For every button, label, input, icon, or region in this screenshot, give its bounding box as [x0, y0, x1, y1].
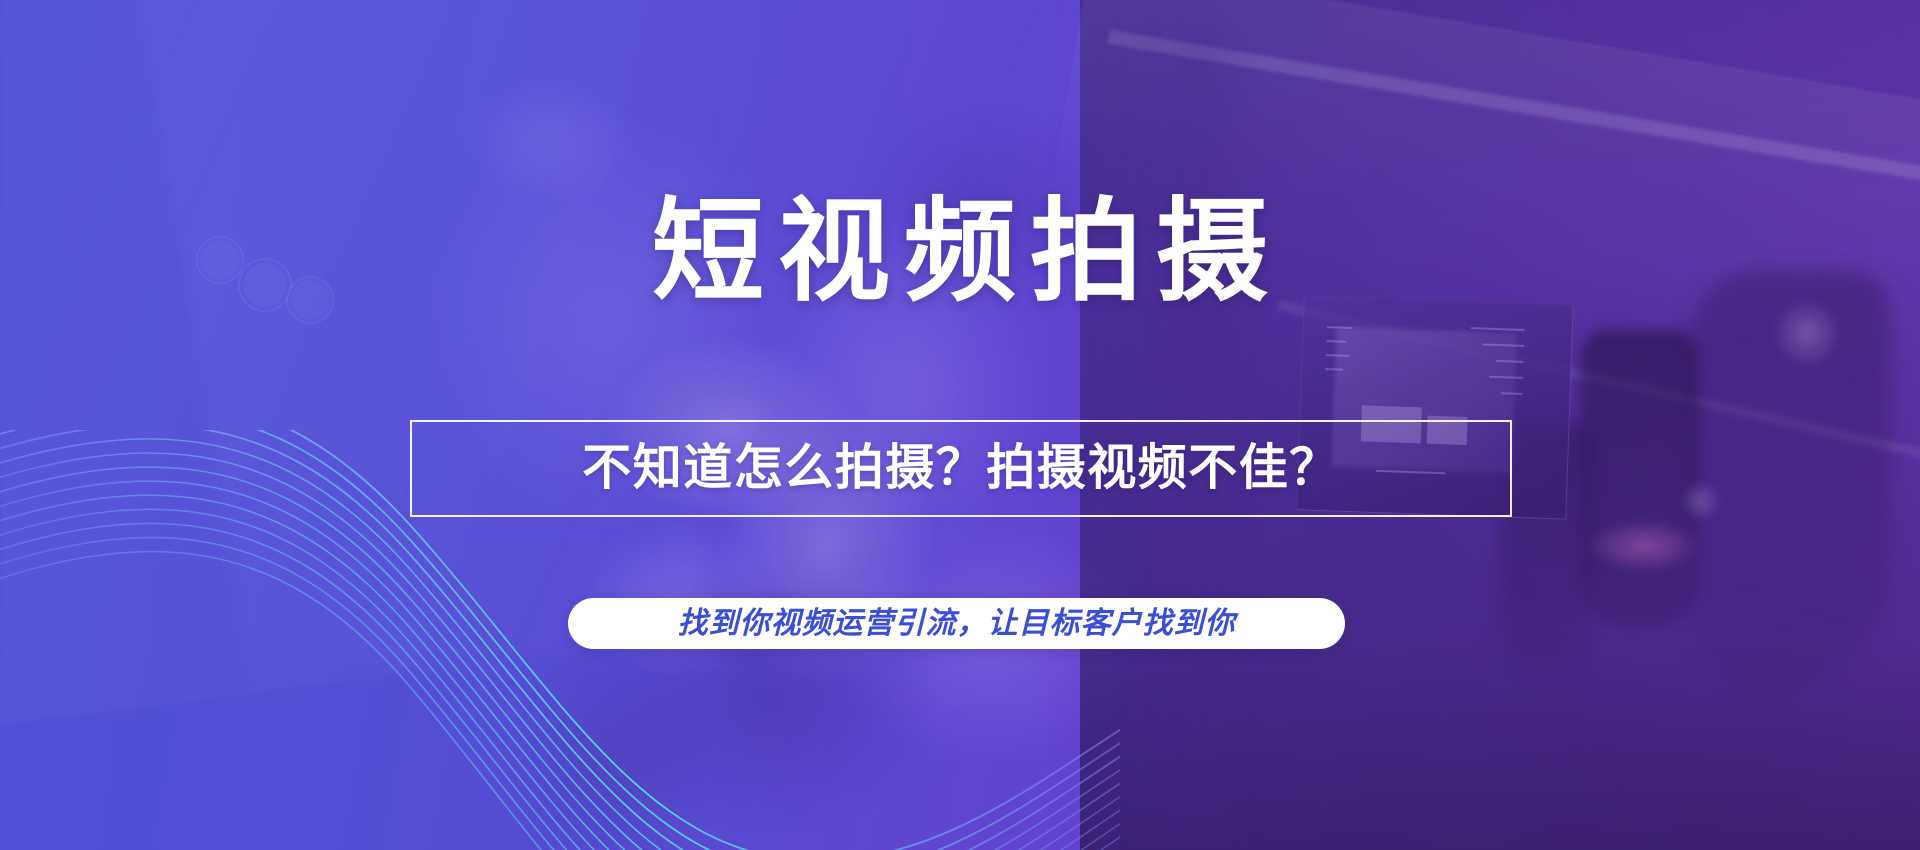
tagline-pill[interactable]: 找到你视频运营引流，让目标客户找到你: [568, 598, 1345, 649]
tagline-text: 找到你视频运营引流，让目标客户找到你: [678, 609, 1236, 639]
page-title: 短视频拍摄: [0, 196, 1920, 308]
subheadline-box: 不知道怎么拍摄？拍摄视频不佳？: [410, 420, 1512, 517]
promo-banner: 短视频拍摄 不知道怎么拍摄？拍摄视频不佳？ 找到你视频运营引流，让目标客户找到你: [0, 0, 1920, 850]
subheadline-text: 不知道怎么拍摄？拍摄视频不佳？: [582, 444, 1340, 493]
